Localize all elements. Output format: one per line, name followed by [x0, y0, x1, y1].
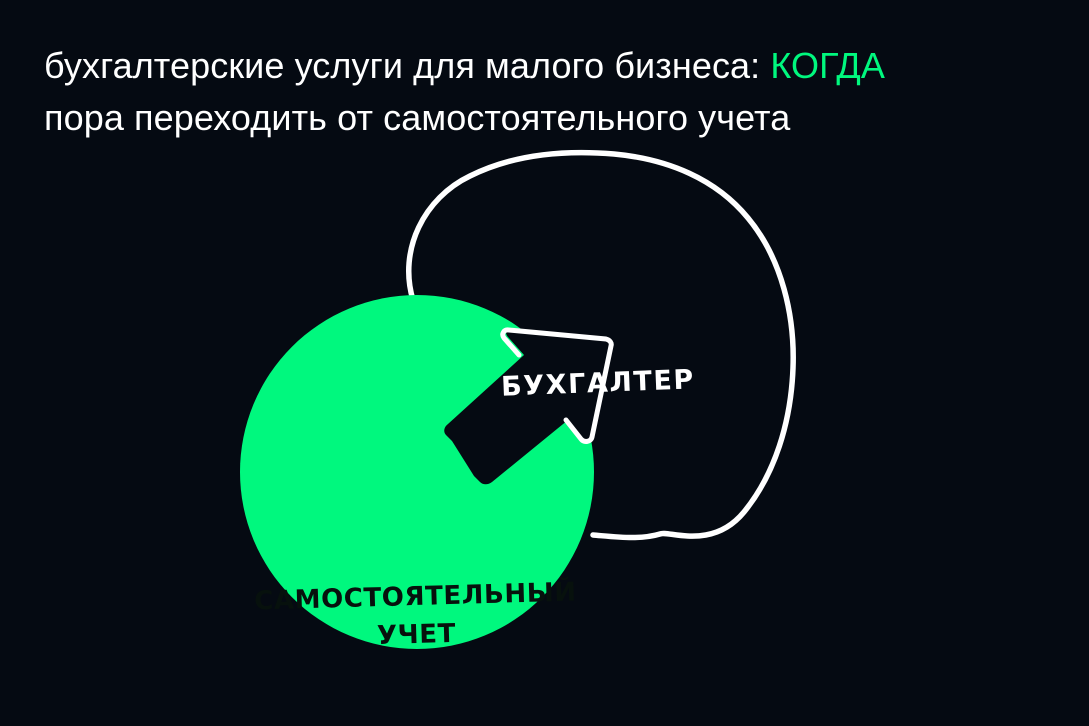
page-title-line-1-text: бухгалтерские услуги для малого бизнеса:	[44, 45, 770, 86]
transition-diagram: БУХГАЛТЕР САМОСТОЯТЕЛЬНЫЙ УЧЕТ	[0, 130, 1089, 726]
poster-canvas: бухгалтерские услуги для малого бизнеса:…	[0, 0, 1089, 726]
page-title-accent-word: КОГДА	[770, 45, 885, 86]
page-title: бухгалтерские услуги для малого бизнеса:…	[44, 40, 1054, 144]
page-title-line-1: бухгалтерские услуги для малого бизнеса:…	[44, 40, 1054, 92]
diagram-svg	[0, 130, 1089, 726]
